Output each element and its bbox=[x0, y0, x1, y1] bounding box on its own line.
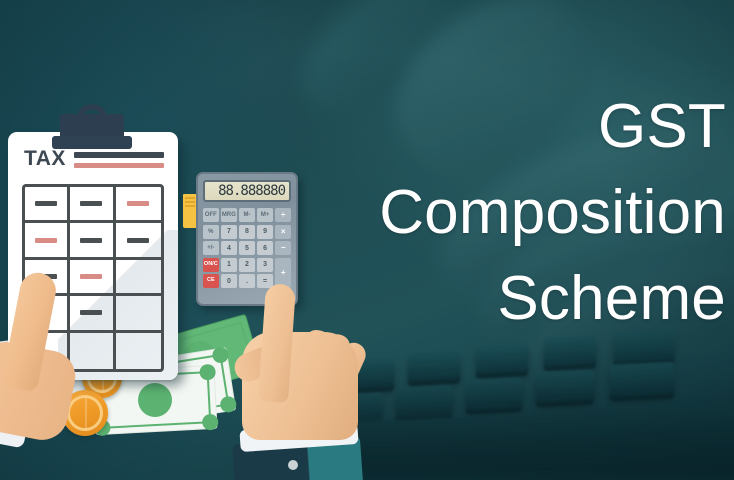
calculator-display-ghost: 88.88888 bbox=[218, 184, 277, 198]
table-cell bbox=[116, 223, 161, 259]
pointing-hand-right bbox=[236, 288, 386, 480]
calculator-key-ce[interactable]: CE bbox=[203, 274, 219, 288]
table-cell bbox=[70, 223, 115, 259]
cell-dash bbox=[127, 201, 149, 206]
calculator-key-off[interactable]: OFF bbox=[203, 208, 219, 222]
table-cell bbox=[116, 296, 161, 332]
banknote-corner bbox=[199, 364, 216, 381]
calculator-key-1[interactable]: 1 bbox=[221, 258, 237, 272]
calculator-key-percent[interactable]: % bbox=[203, 225, 219, 239]
table-cell bbox=[116, 260, 161, 296]
calculator-key-2[interactable]: 2 bbox=[239, 258, 255, 272]
calculator-key-4[interactable]: 4 bbox=[221, 241, 237, 255]
cell-dash bbox=[127, 310, 149, 315]
dark-rule bbox=[74, 152, 164, 158]
calculator-display-value: 0 bbox=[278, 184, 285, 198]
table-cell bbox=[116, 333, 161, 369]
headline-line-1: GST bbox=[256, 84, 726, 170]
table-cell bbox=[116, 187, 161, 223]
banknote-corner bbox=[219, 395, 237, 413]
calculator-key-sign[interactable]: +/- bbox=[203, 241, 219, 255]
calculator-key-5[interactable]: 5 bbox=[239, 241, 255, 255]
calculator-keypad: OFF MRG M- M+ ÷ % 7 8 9 × +/- 4 5 6 − ON… bbox=[203, 208, 291, 288]
table-cell bbox=[25, 187, 70, 223]
calculator-key-m-plus[interactable]: M+ bbox=[257, 208, 273, 222]
clipboard-header: TAX bbox=[24, 148, 164, 169]
calculator-key-mrg[interactable]: MRG bbox=[221, 208, 237, 222]
calculator-key-8[interactable]: 8 bbox=[239, 225, 255, 239]
cell-dash bbox=[80, 201, 102, 206]
calculator-key-m-minus[interactable]: M- bbox=[239, 208, 255, 222]
calculator-key-minus[interactable]: − bbox=[275, 241, 291, 255]
banknote-corner bbox=[202, 414, 219, 431]
cell-dash bbox=[35, 201, 57, 206]
calculator-display: 88.88888 0 bbox=[203, 180, 291, 202]
clipboard-clip-bar bbox=[52, 136, 132, 149]
header-rules bbox=[74, 150, 164, 168]
calculator-key-on-c[interactable]: ON/C bbox=[203, 258, 219, 272]
calculator-key-3[interactable]: 3 bbox=[257, 258, 273, 272]
calculator-key-7[interactable]: 7 bbox=[221, 225, 237, 239]
cell-dash bbox=[80, 238, 102, 243]
calculator-key-divide[interactable]: ÷ bbox=[275, 208, 291, 222]
banner-image: GST Composition Scheme bbox=[0, 0, 734, 480]
cell-dash bbox=[127, 238, 149, 243]
headline-line-2: Composition bbox=[256, 170, 726, 256]
table-cell bbox=[70, 187, 115, 223]
pointing-hand-left bbox=[0, 272, 106, 422]
table-cell bbox=[25, 223, 70, 259]
tax-title: TAX bbox=[24, 148, 66, 169]
calculator-key-decimal[interactable]: . bbox=[239, 274, 255, 288]
calculator-key-multiply[interactable]: × bbox=[275, 225, 291, 239]
calculator-key-0[interactable]: 0 bbox=[221, 274, 237, 288]
cell-dash bbox=[35, 238, 57, 243]
cell-dash bbox=[127, 274, 149, 279]
cell-dash bbox=[127, 348, 149, 353]
calculator-key-9[interactable]: 9 bbox=[257, 225, 273, 239]
calculator-key-6[interactable]: 6 bbox=[257, 241, 273, 255]
red-rule bbox=[74, 163, 164, 168]
sleeve-button bbox=[288, 460, 298, 470]
